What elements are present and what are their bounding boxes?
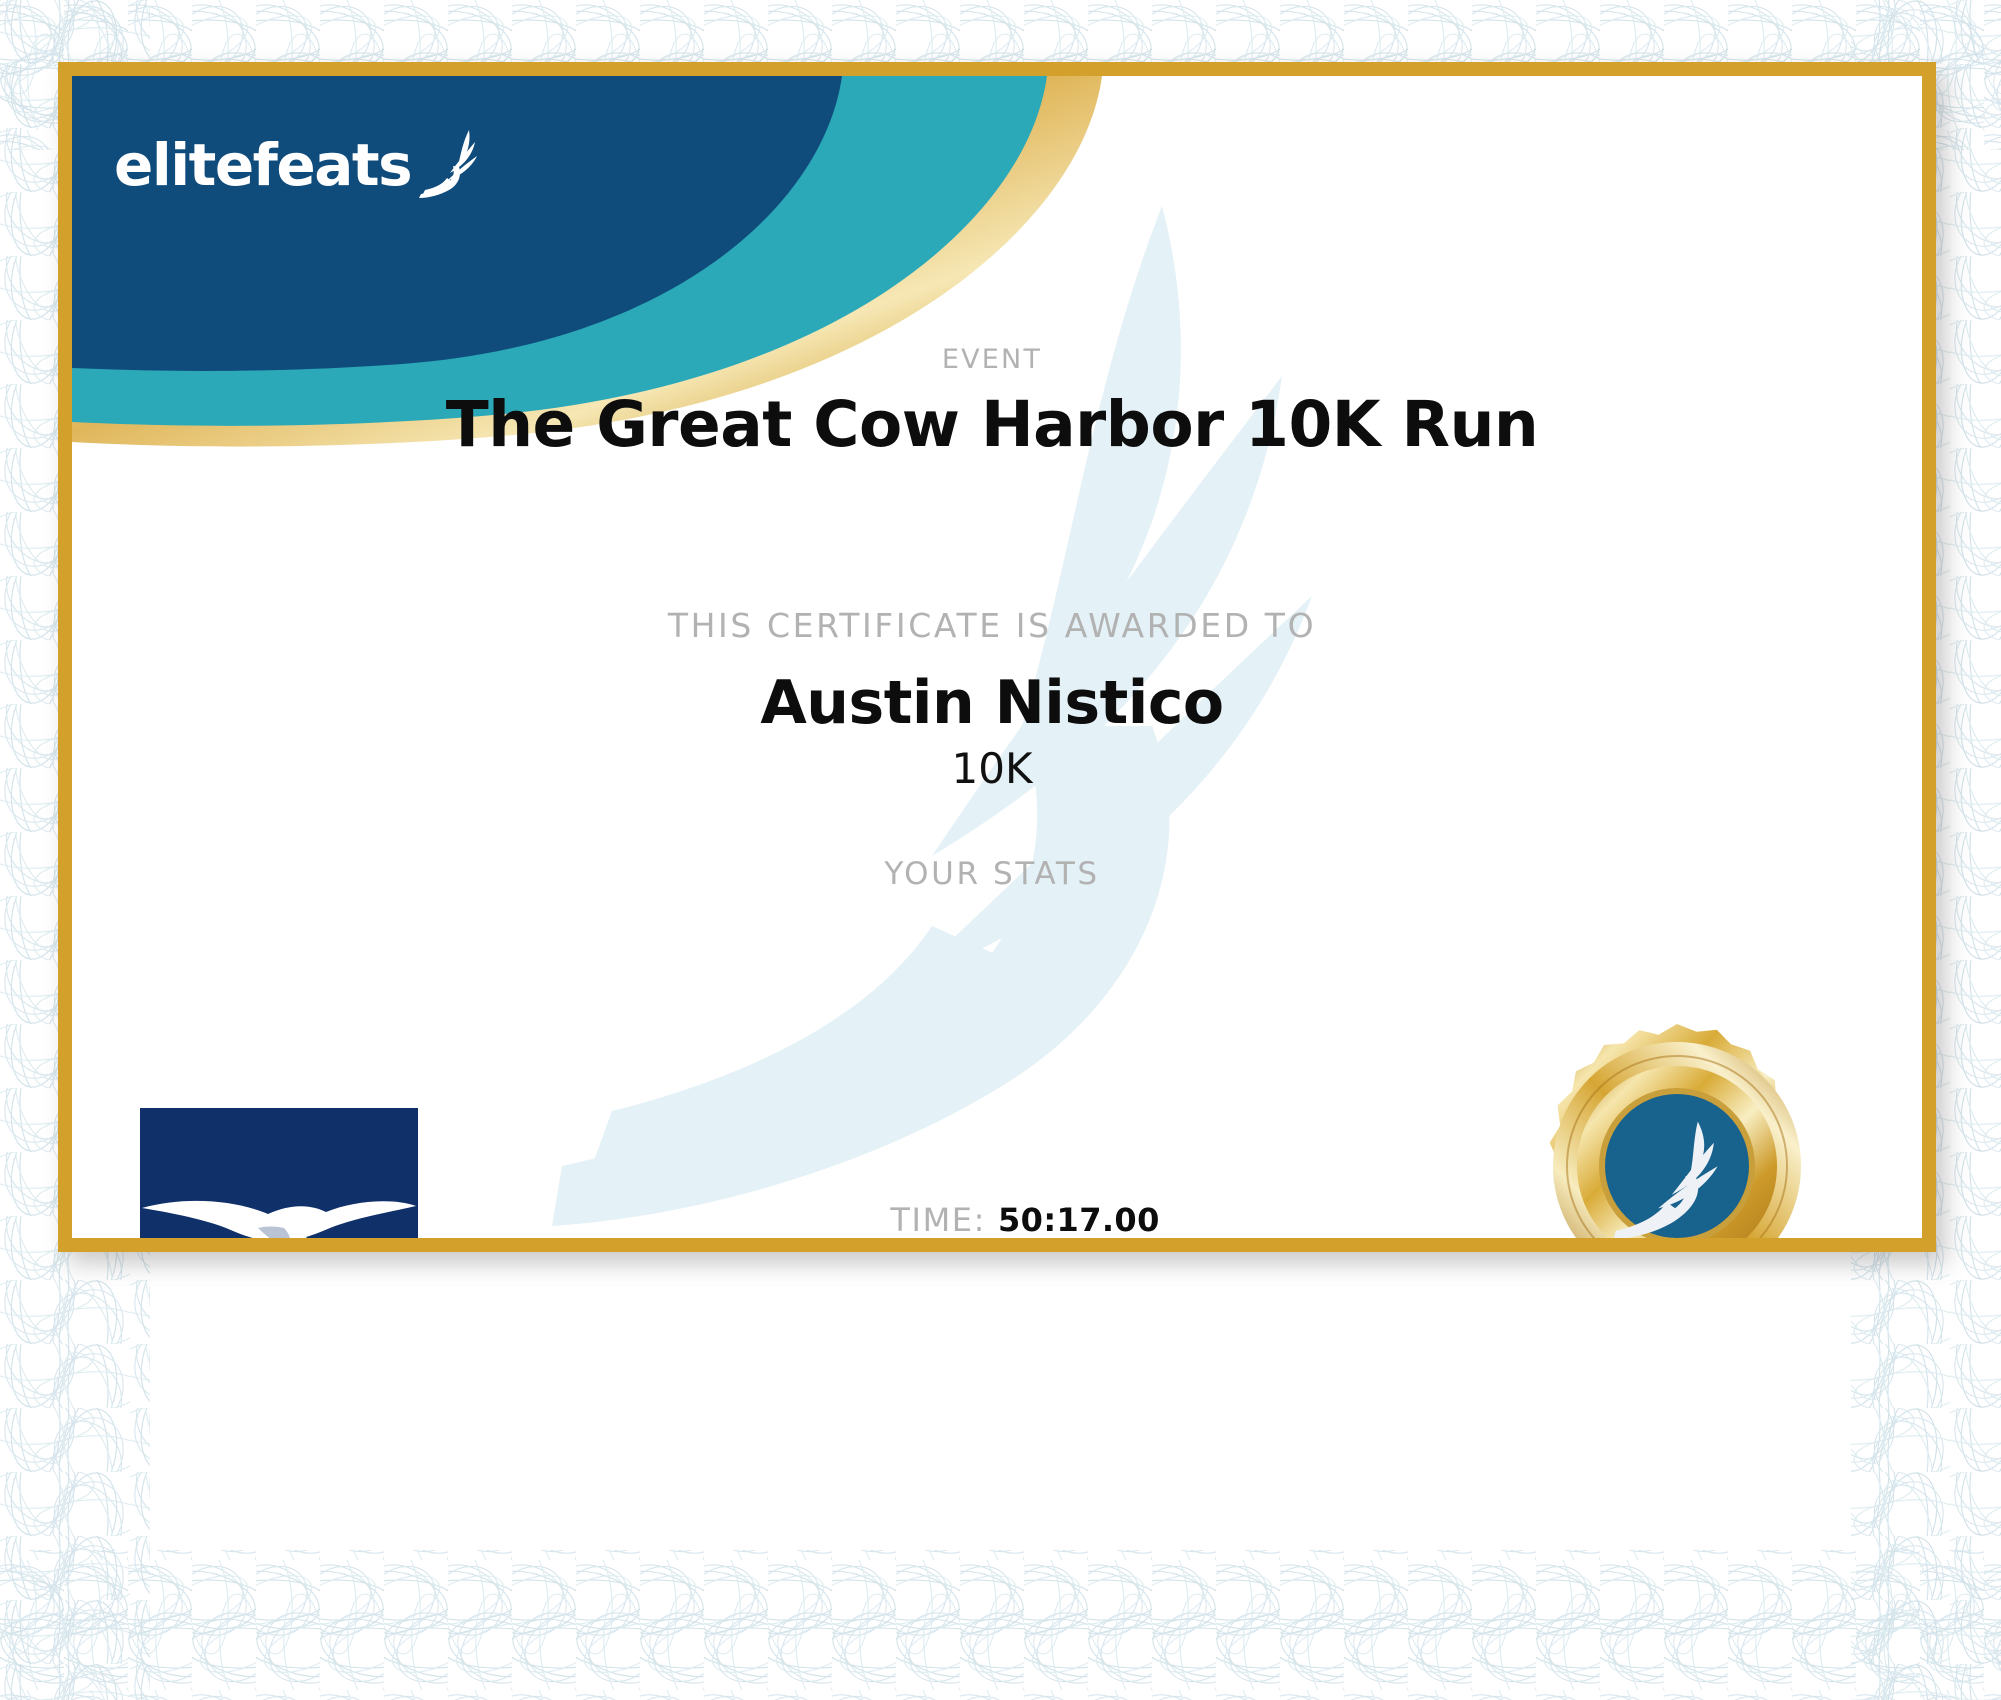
seagull-icon [140,1108,418,1238]
your-stats-label: YOUR STATS [352,856,1632,892]
stats-list: TIME: 50:17.00 AGE GROUP PLACE: 70 of 18… [352,1201,1632,1238]
certificate-card: elitefeats EVEN [72,76,1922,1238]
stat-label: TIME: [346,1201,998,1238]
event-name: The Great Cow Harbor 10K Run [352,388,1632,461]
finisher-medal-badge: 2024 [1527,1016,1827,1238]
awarded-to-label: THIS CERTIFICATE IS AWARDED TO [352,606,1632,645]
recipient-name: Austin Nistico [352,668,1632,738]
gold-certificate-frame: elitefeats EVEN [58,62,1936,1252]
race-logo: THE GREAT COW HARBOR 10 KILOMETER RUN • … [140,1108,418,1238]
event-label: EVENT [352,344,1632,375]
distance-label: 10K [352,744,1632,793]
stat-row-time: TIME: 50:17.00 [352,1201,1632,1238]
